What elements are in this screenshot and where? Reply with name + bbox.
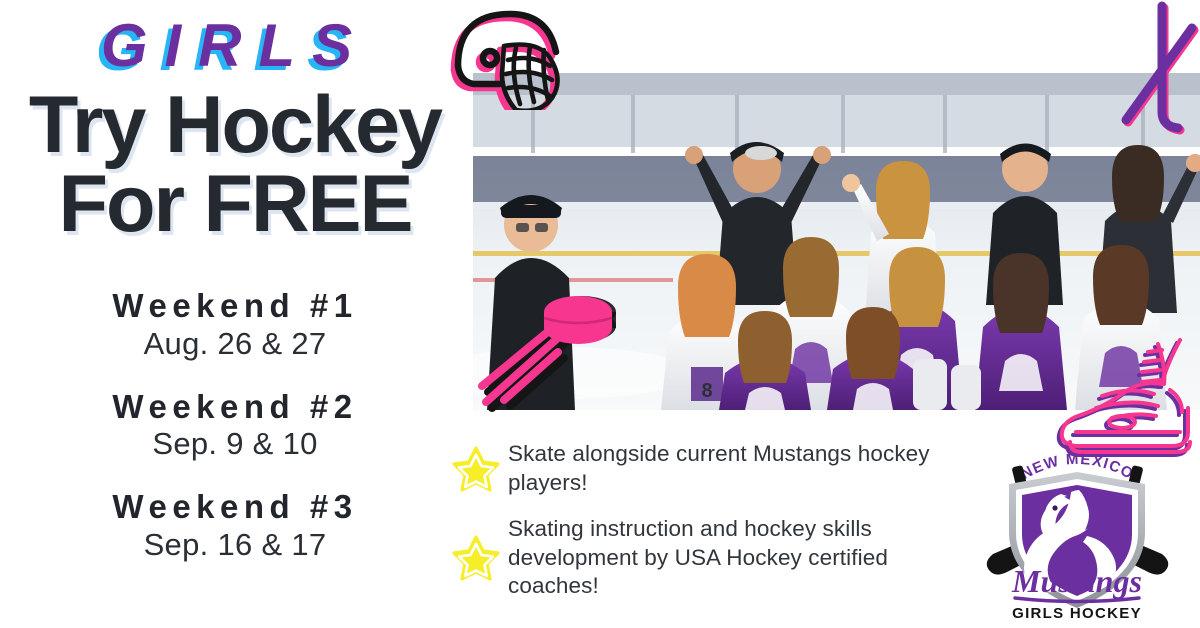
headline-line-1: Try Hockey [29, 80, 441, 170]
bullet-item: Skating instruction and hockey skills de… [450, 515, 970, 601]
weekend-title: Weekend #1 [0, 288, 470, 325]
poster-canvas: GIRLS Try Hockey For FREE Weekend #1 Aug… [0, 0, 1200, 628]
weekend-schedule-list: Weekend #1 Aug. 26 & 27 Weekend #2 Sep. … [0, 288, 470, 590]
weekend-dates: Sep. 16 & 17 [0, 527, 470, 564]
logo-subtitle: GIRLS HOCKEY [1012, 605, 1142, 622]
weekend-item: Weekend #1 Aug. 26 & 27 [0, 288, 470, 363]
weekend-dates: Aug. 26 & 27 [0, 326, 470, 363]
mustangs-logo: NEW MEXICO [975, 432, 1180, 624]
weekend-title: Weekend #2 [0, 389, 470, 426]
weekend-item: Weekend #3 Sep. 16 & 17 [0, 489, 470, 564]
weekend-dates: Sep. 9 & 10 [0, 426, 470, 463]
weekend-title: Weekend #3 [0, 489, 470, 526]
feature-bullet-list: Skate alongside current Mustangs hockey … [450, 440, 970, 619]
svg-text:8: 8 [701, 380, 712, 402]
weekend-item: Weekend #2 Sep. 9 & 10 [0, 389, 470, 464]
eyebrow-girls: GIRLS [0, 16, 470, 76]
bullet-item: Skate alongside current Mustangs hockey … [450, 440, 970, 497]
logo-wordmark: Mustangs [1011, 563, 1142, 599]
bullet-text: Skate alongside current Mustangs hockey … [508, 440, 970, 497]
left-text-column: GIRLS Try Hockey For FREE Weekend #1 Aug… [0, 0, 470, 628]
headline-line-2: For FREE [0, 165, 470, 244]
star-icon [450, 443, 502, 495]
page-title: Try Hockey For FREE [0, 86, 470, 243]
bullet-text: Skating instruction and hockey skills de… [508, 515, 970, 601]
star-icon [450, 532, 502, 584]
team-photo: 8 9 [473, 73, 1200, 410]
